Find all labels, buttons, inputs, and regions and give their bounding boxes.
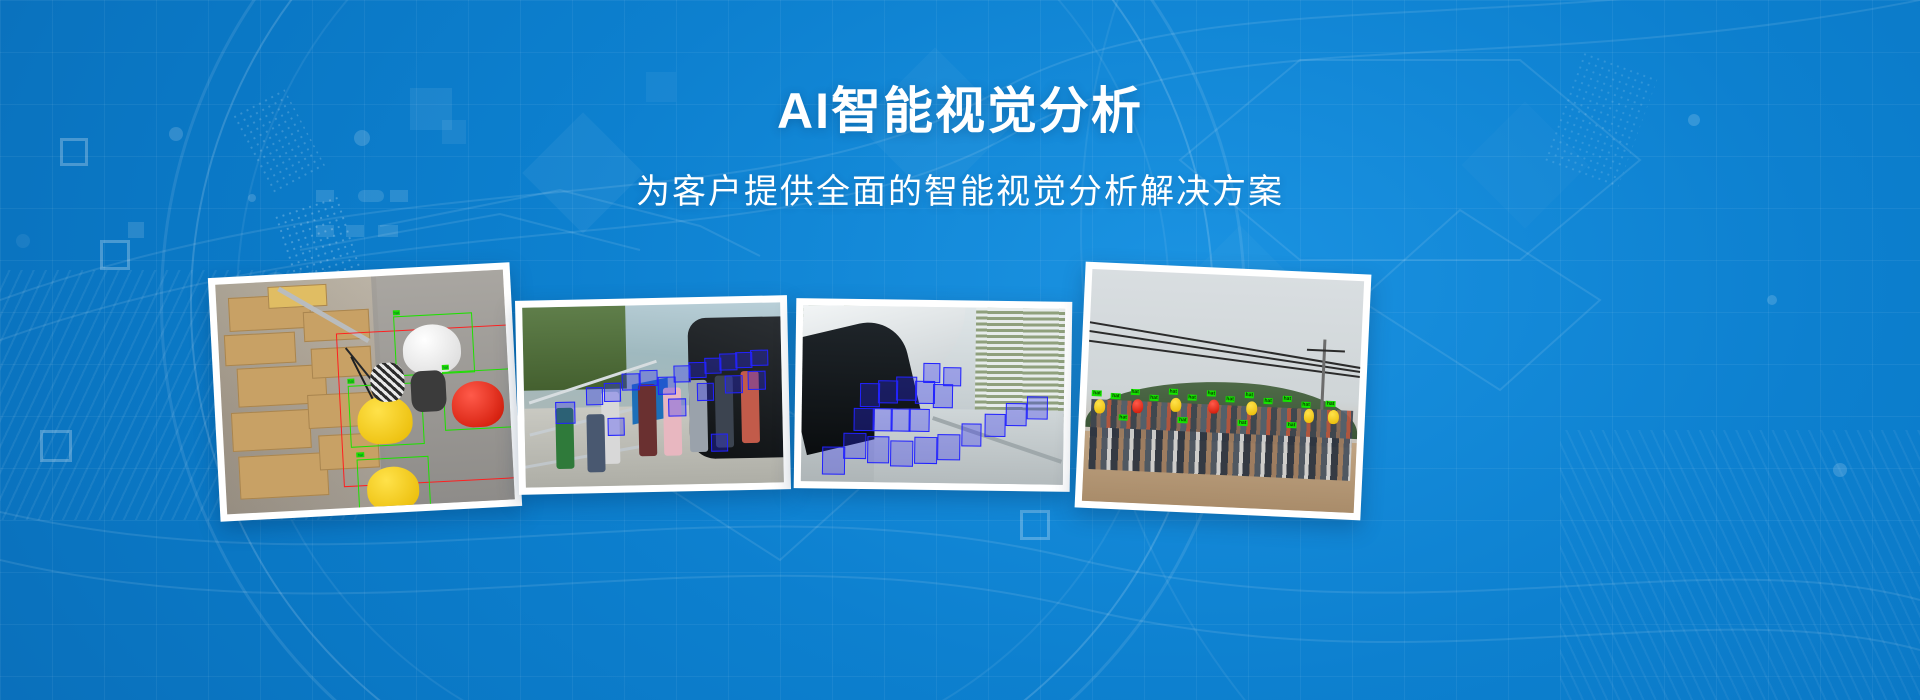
person-detection-box-16 bbox=[961, 424, 982, 447]
worker-body bbox=[410, 369, 447, 412]
person-detection-box-13 bbox=[914, 437, 937, 464]
hat-label-15: hat bbox=[1178, 417, 1188, 423]
person-detection-box-15 bbox=[822, 446, 845, 475]
page-title: AI智能视觉分析 bbox=[0, 84, 1920, 138]
person-detection-box-21 bbox=[944, 367, 962, 387]
gallery-item-3[interactable] bbox=[794, 298, 1073, 492]
face-detection-box-14 bbox=[697, 383, 715, 402]
hat-label-12: hat bbox=[1301, 402, 1311, 408]
outdoor-helmet-red-1 bbox=[1132, 399, 1143, 413]
worker-scarf bbox=[369, 362, 406, 403]
outdoor-helmet-yellow-5 bbox=[1328, 410, 1339, 424]
hat-label-16: hat bbox=[1238, 420, 1248, 426]
face-detection-box-16 bbox=[748, 371, 766, 390]
carton-2 bbox=[224, 331, 297, 367]
detection-label-yellow-helmet-1: hat bbox=[347, 379, 355, 384]
photo-gallery: hat hat hat hat bbox=[0, 258, 1920, 518]
pedestrian-8 bbox=[586, 414, 605, 472]
tree-background bbox=[522, 306, 627, 391]
gallery-item-1[interactable]: hat hat hat hat bbox=[208, 262, 522, 521]
person-detection-box-9 bbox=[909, 409, 930, 432]
person-detection-box-19 bbox=[1027, 396, 1048, 419]
hero-banner: AI智能视觉分析 为客户提供全面的智能视觉分析解决方案 bbox=[0, 0, 1920, 700]
detection-box-white-helmet bbox=[393, 313, 476, 377]
hat-label-6: hat bbox=[1187, 394, 1197, 400]
detection-box-red-helmet bbox=[442, 368, 513, 431]
hat-label-7: hat bbox=[1206, 390, 1216, 396]
face-detection-box-5 bbox=[640, 370, 658, 387]
dot-decoration-4 bbox=[16, 234, 30, 248]
person-detection-box-14 bbox=[937, 434, 960, 461]
face-detection-box-2 bbox=[586, 387, 604, 406]
carton-4 bbox=[231, 409, 313, 452]
hat-label-4: hat bbox=[1149, 395, 1159, 401]
page-subtitle: 为客户提供全面的智能视觉分析解决方案 bbox=[0, 164, 1920, 213]
detection-label-yellow-helmet-2: hat bbox=[357, 452, 365, 457]
square-filled-5 bbox=[316, 225, 334, 237]
banner-headings: AI智能视觉分析 为客户提供全面的智能视觉分析解决方案 bbox=[0, 84, 1920, 213]
person-detection-box-17 bbox=[985, 413, 1006, 436]
face-detection-box-3 bbox=[604, 383, 622, 402]
person-detection-box-20 bbox=[923, 363, 941, 383]
face-detection-box-4 bbox=[622, 374, 640, 391]
hat-label-1: hat bbox=[1092, 390, 1102, 396]
gallery-item-4[interactable]: hat hat hat hat hat hat hat hat hat hat … bbox=[1075, 262, 1372, 521]
person-detection-box-5 bbox=[933, 384, 954, 407]
face-detection-box-13 bbox=[669, 398, 687, 417]
hat-label-3: hat bbox=[1130, 389, 1140, 395]
square-filled-6 bbox=[346, 225, 364, 237]
hat-label-9: hat bbox=[1244, 392, 1254, 398]
hat-label-13: hat bbox=[1326, 400, 1336, 406]
hat-label-17: hat bbox=[1287, 422, 1297, 428]
person-detection-box-12 bbox=[890, 440, 913, 467]
person-detection-box-18 bbox=[1006, 403, 1027, 426]
carton-5 bbox=[239, 452, 330, 500]
hat-label-10: hat bbox=[1263, 397, 1273, 403]
detection-label-red-helmet: hat bbox=[441, 365, 449, 370]
photo-bridge-crowd-face-detection bbox=[522, 302, 784, 487]
person-detection-box-11 bbox=[867, 436, 890, 463]
photo-warehouse-helmet-detection: hat hat hat hat bbox=[215, 270, 515, 515]
hat-label-8: hat bbox=[1225, 396, 1235, 402]
hat-label-5: hat bbox=[1168, 389, 1178, 395]
person-detection-box-10 bbox=[843, 432, 866, 459]
face-detection-box-18 bbox=[607, 417, 625, 436]
photo-station-platform-crowd-detection bbox=[801, 305, 1065, 485]
face-detection-box-15 bbox=[725, 375, 743, 394]
square-filled-7 bbox=[378, 225, 398, 237]
gallery-item-2[interactable] bbox=[515, 295, 791, 495]
pedestrian-3 bbox=[637, 384, 657, 456]
hat-label-14: hat bbox=[1118, 414, 1128, 420]
outdoor-helmet-yellow-4 bbox=[1303, 409, 1314, 423]
face-detection-box-17 bbox=[711, 433, 729, 452]
hat-label-11: hat bbox=[1282, 396, 1292, 402]
photo-outdoor-crowd-hat-detection: hat hat hat hat hat hat hat hat hat hat … bbox=[1082, 269, 1364, 513]
face-detection-box-1 bbox=[555, 402, 575, 424]
face-detection-box-12 bbox=[750, 349, 768, 366]
square-filled-1 bbox=[128, 222, 144, 238]
detection-label-white-helmet: hat bbox=[392, 310, 400, 315]
detection-box-yellow-helmet-2 bbox=[357, 455, 431, 514]
outdoor-helmet-yellow-1 bbox=[1094, 399, 1105, 413]
hat-label-2: hat bbox=[1111, 393, 1121, 399]
